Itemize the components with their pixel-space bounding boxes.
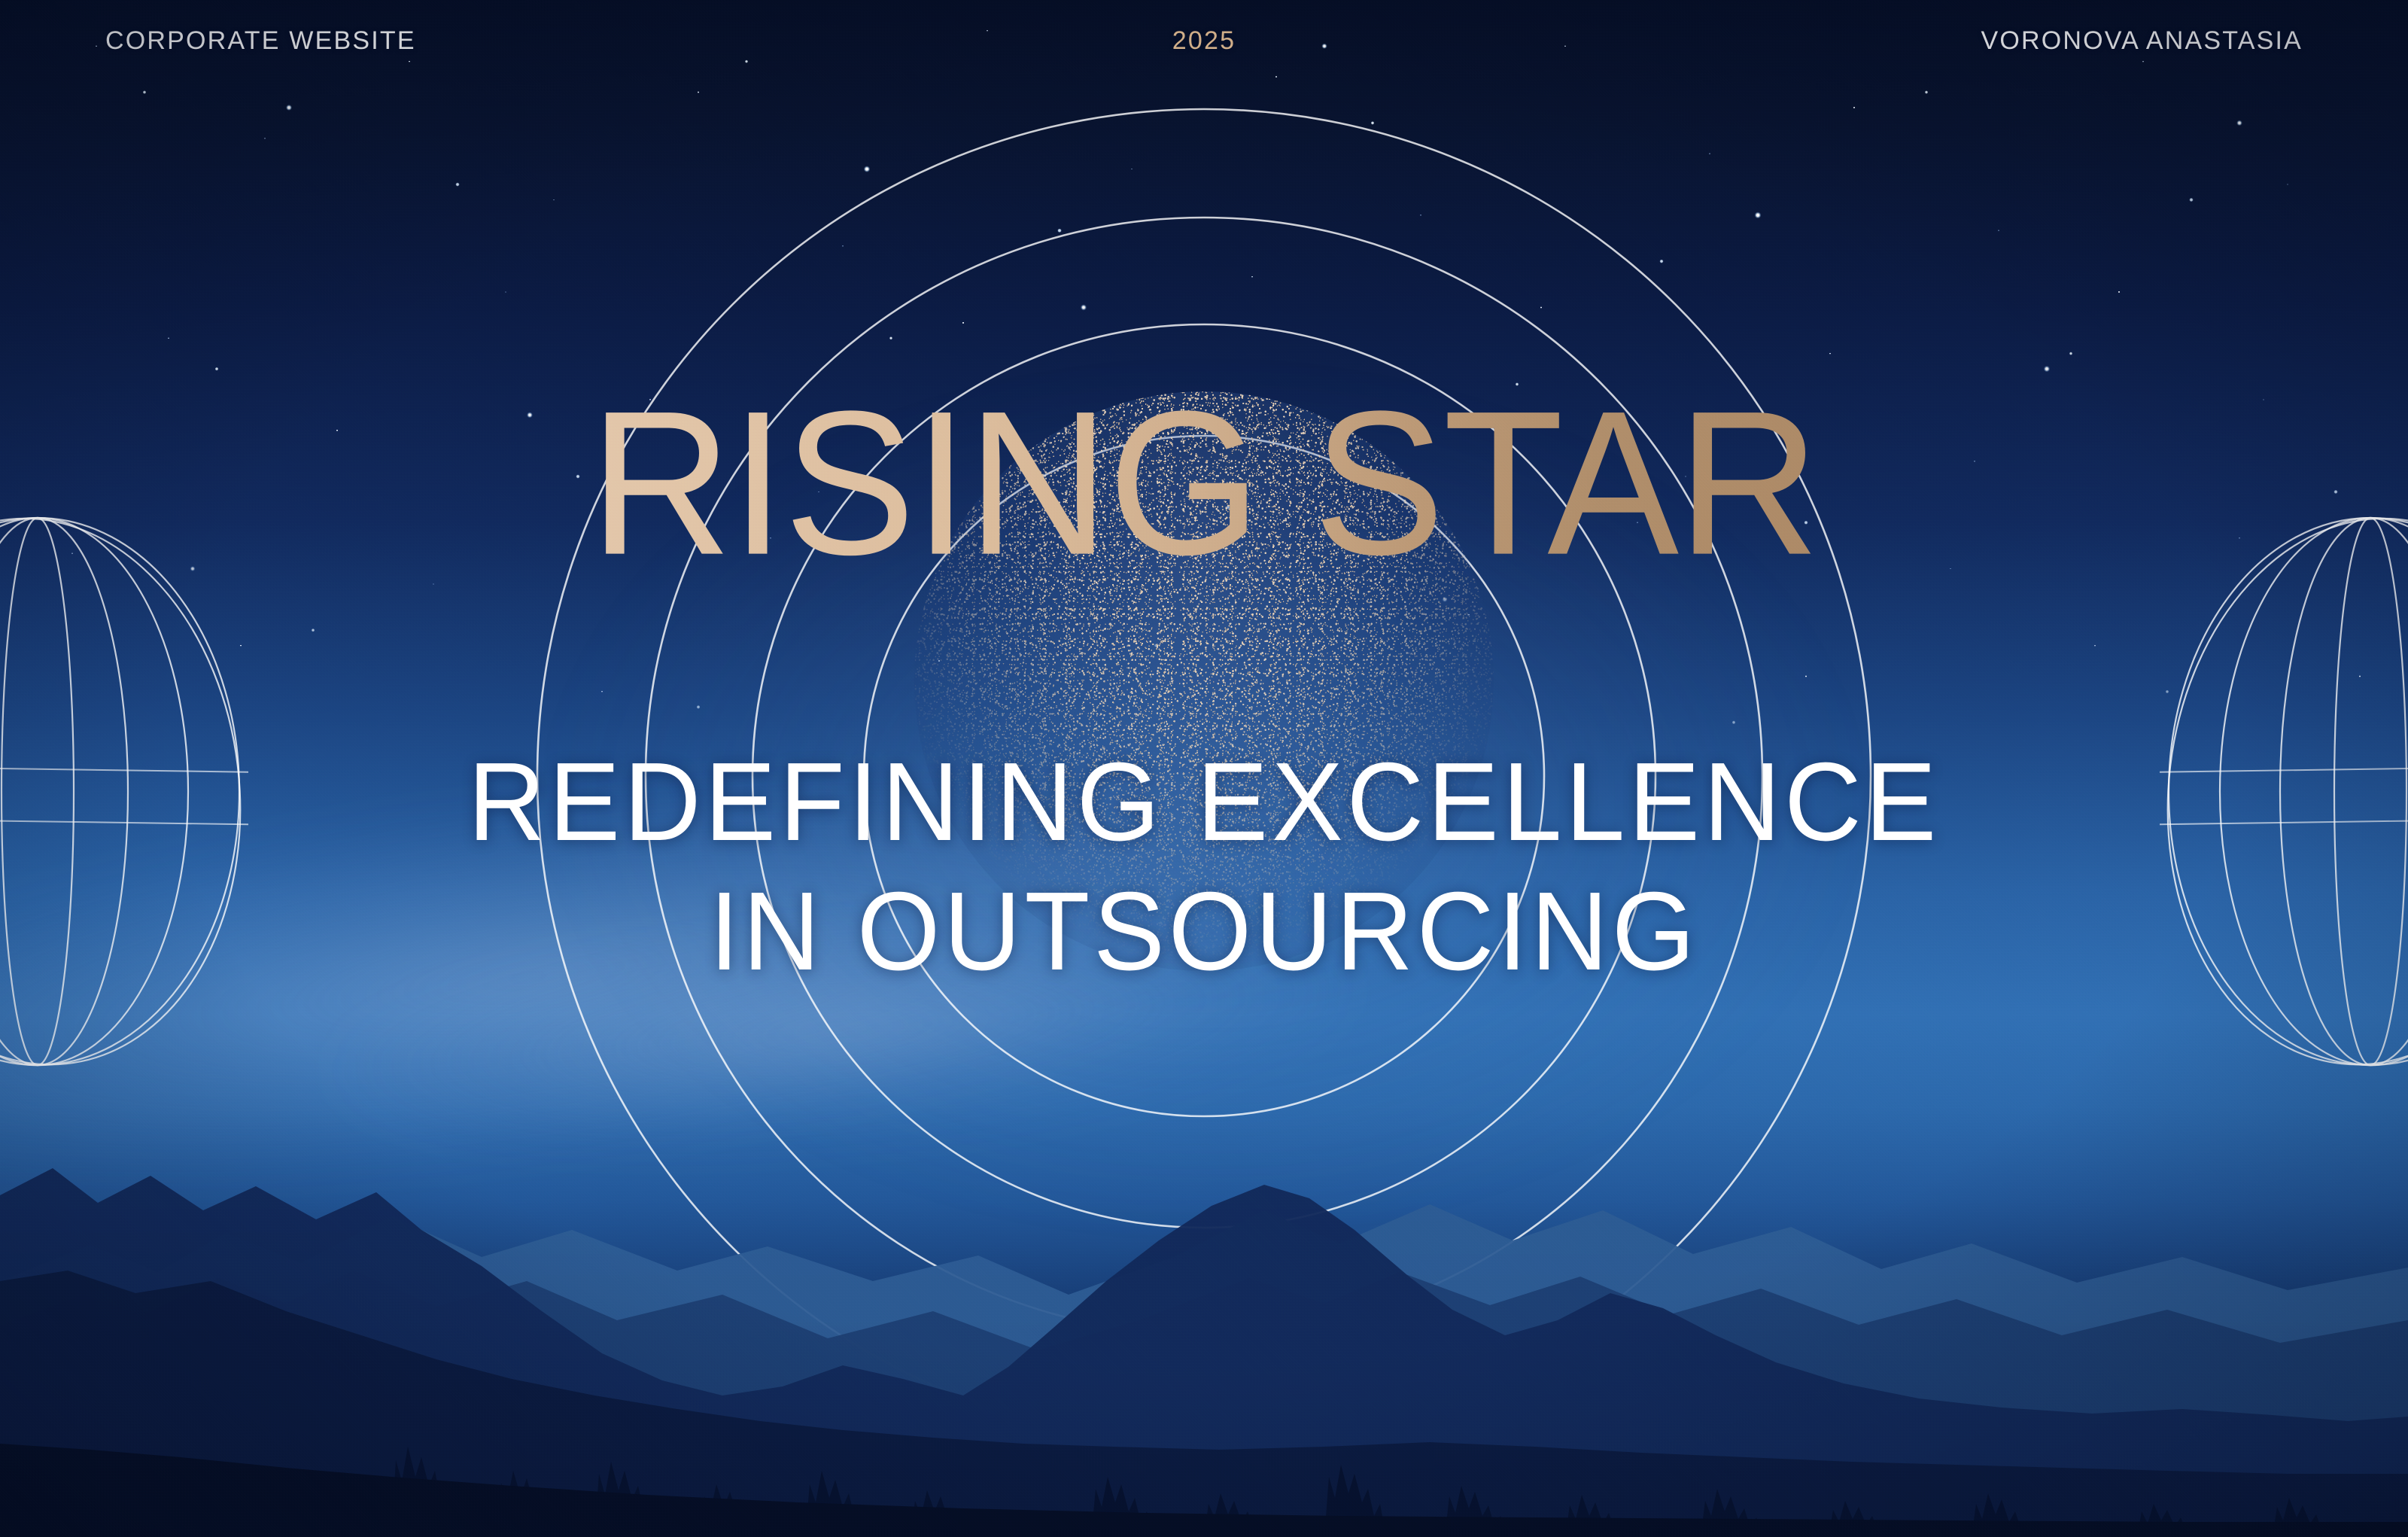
header-center-slot: 2025: [1172, 26, 1236, 56]
hero-subtitle-block: REDEFINING EXCELLENCE IN OUTSOURCING: [0, 738, 2408, 996]
brand-title: RISING STAR: [590, 391, 1819, 575]
presentation-slide: CORPORATE WEBSITE 2025 VORONOVA ANASTASI…: [0, 0, 2408, 1537]
subtitle-line-1: REDEFINING EXCELLENCE: [48, 738, 2360, 867]
slide-header: CORPORATE WEBSITE 2025 VORONOVA ANASTASI…: [0, 0, 2408, 81]
header-right-slot: VORONOVA ANASTASIA: [1236, 26, 2303, 56]
header-category-label: CORPORATE WEBSITE: [105, 26, 416, 55]
brand-title-block: RISING STAR: [0, 394, 2408, 572]
header-left-slot: CORPORATE WEBSITE: [105, 26, 1172, 56]
header-author-label: VORONOVA ANASTASIA: [1981, 26, 2303, 55]
header-year-label: 2025: [1172, 26, 1236, 55]
subtitle-line-2: IN OUTSOURCING: [48, 867, 2360, 997]
